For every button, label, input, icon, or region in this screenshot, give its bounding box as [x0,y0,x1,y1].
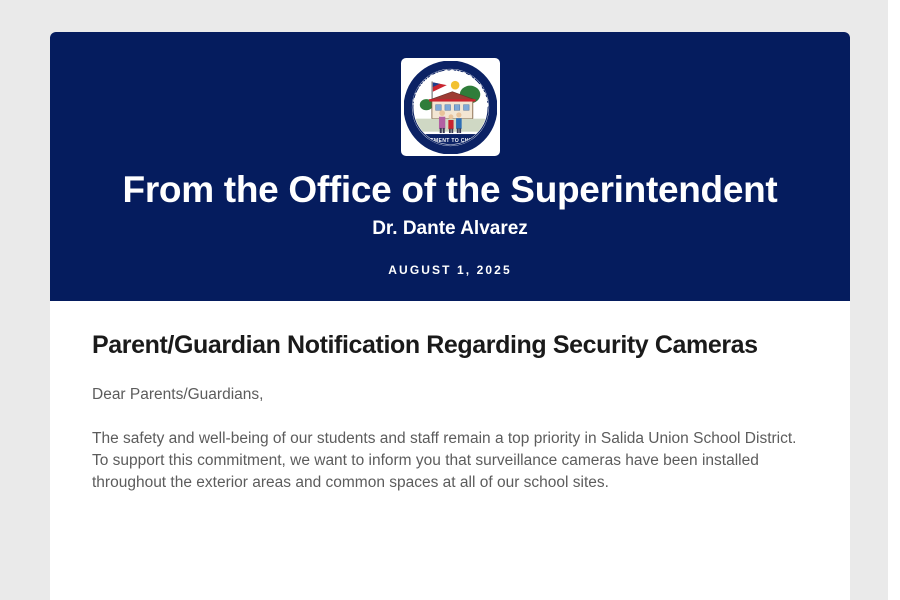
card-header: SALIDA UNION SCHOOL DISTRICT [50,32,850,301]
newsletter-card: SALIDA UNION SCHOOL DISTRICT [50,32,850,600]
salutation-paragraph: Dear Parents/Guardians, [92,384,808,406]
email-viewport: SALIDA UNION SCHOOL DISTRICT [0,0,900,600]
superintendent-name: Dr. Dante Alvarez [90,217,810,241]
body-paragraph: The safety and well-being of our student… [92,428,808,494]
card-body: Parent/Guardian Notification Regarding S… [50,301,850,494]
district-seal-icon: SALIDA UNION SCHOOL DISTRICT [401,58,500,156]
page-title: From the Office of the Superintendent [90,168,810,211]
publication-date: AUGUST 1, 2025 [90,263,810,277]
vertical-scrollbar[interactable] [888,0,900,600]
notification-heading: Parent/Guardian Notification Regarding S… [92,329,808,362]
